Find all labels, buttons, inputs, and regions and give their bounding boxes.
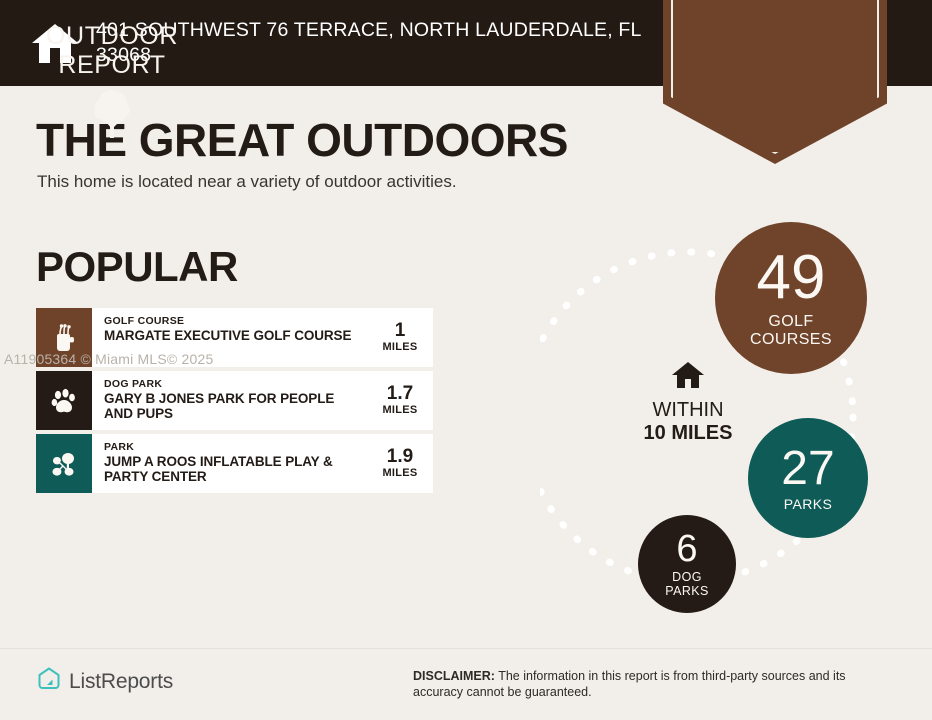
- list-item-name: JUMP A ROOS INFLATABLE PLAY & PARTY CENT…: [104, 454, 361, 484]
- distance-value: 1: [367, 320, 433, 341]
- badge-inner-border: [671, 0, 879, 154]
- list-item-text: DOG PARK GARY B JONES PARK FOR PEOPLE AN…: [92, 371, 367, 430]
- list-item-text: GOLF COURSE MARGATE EXECUTIVE GOLF COURS…: [92, 308, 367, 367]
- stats-cluster: WITHIN 10 MILES 49 GOLF COURSES 27 PARKS…: [540, 205, 932, 625]
- list-item-distance: 1.9 MILES: [367, 434, 433, 493]
- distance-value: 1.7: [367, 383, 433, 404]
- center-marker: WITHIN 10 MILES: [628, 360, 748, 445]
- stat-label: DOG PARKS: [665, 570, 708, 598]
- distance-unit: MILES: [367, 404, 433, 416]
- list-item[interactable]: PARK JUMP A ROOS INFLATABLE PLAY & PARTY…: [36, 434, 433, 493]
- stat-circle-parks[interactable]: 27 PARKS: [748, 418, 868, 538]
- disclaimer: DISCLAIMER: The information in this repo…: [413, 668, 888, 700]
- badge-title-line1: OUTDOOR: [0, 22, 224, 51]
- outdoor-report-page: 401 SOUTHWEST 76 TERRACE, NORTH LAUDERDA…: [0, 0, 932, 720]
- list-item-distance: 1 MILES: [367, 308, 433, 367]
- stat-label-line1: GOLF: [750, 313, 832, 331]
- stat-value: 27: [781, 445, 834, 493]
- stat-label-line2: PARKS: [665, 584, 708, 598]
- distance-unit: MILES: [367, 467, 433, 479]
- stat-label-line2: COURSES: [750, 331, 832, 349]
- disclaimer-label: DISCLAIMER:: [413, 669, 495, 683]
- within-label: WITHIN: [628, 399, 748, 422]
- stat-label: PARKS: [784, 496, 832, 512]
- list-item-name: GARY B JONES PARK FOR PEOPLE AND PUPS: [104, 391, 361, 421]
- stat-value: 6: [676, 530, 697, 568]
- list-item-category: PARK: [104, 441, 361, 454]
- house-icon: [671, 377, 705, 394]
- list-item-category: DOG PARK: [104, 378, 361, 391]
- distance-value: 1.9: [367, 446, 433, 467]
- stat-label: GOLF COURSES: [750, 313, 832, 349]
- list-item-text: PARK JUMP A ROOS INFLATABLE PLAY & PARTY…: [92, 434, 367, 493]
- list-item-distance: 1.7 MILES: [367, 371, 433, 430]
- stat-circle-dog-parks[interactable]: 6 DOG PARKS: [638, 515, 736, 613]
- badge-title: OUTDOOR REPORT: [0, 22, 224, 80]
- stat-value: 49: [757, 247, 826, 309]
- listreports-logo[interactable]: ListReports: [36, 666, 173, 697]
- tree-icon: [92, 88, 132, 140]
- stat-label-line1: DOG: [665, 570, 708, 584]
- list-item[interactable]: DOG PARK GARY B JONES PARK FOR PEOPLE AN…: [36, 371, 433, 430]
- golf-bag-icon: [36, 308, 92, 367]
- outdoor-report-badge: [663, 0, 887, 164]
- stat-circle-golf-courses[interactable]: 49 GOLF COURSES: [715, 222, 867, 374]
- park-tree-icon: [36, 434, 92, 493]
- list-item-name: MARGATE EXECUTIVE GOLF COURSE: [104, 328, 361, 343]
- badge-title-line2: REPORT: [0, 51, 224, 80]
- popular-heading: POPULAR: [36, 243, 238, 291]
- listreports-pin-icon: [36, 666, 69, 697]
- footer-divider: [0, 648, 932, 649]
- distance-unit: MILES: [367, 341, 433, 353]
- list-item-category: GOLF COURSE: [104, 315, 361, 328]
- popular-list: GOLF COURSE MARGATE EXECUTIVE GOLF COURS…: [36, 308, 433, 497]
- page-subtitle: This home is located near a variety of o…: [37, 172, 457, 192]
- listreports-wordmark: ListReports: [69, 670, 173, 694]
- radius-label: 10 MILES: [628, 422, 748, 445]
- paw-icon: [36, 371, 92, 430]
- list-item[interactable]: GOLF COURSE MARGATE EXECUTIVE GOLF COURS…: [36, 308, 433, 367]
